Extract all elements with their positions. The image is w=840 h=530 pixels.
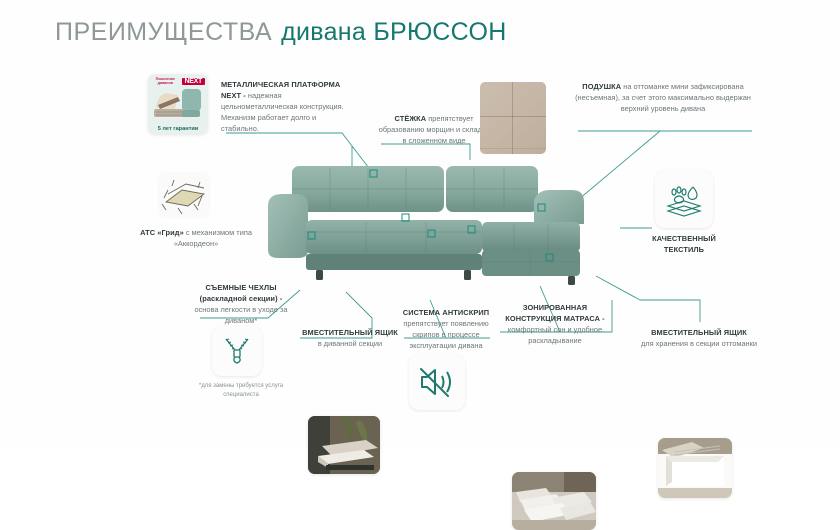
feature-sofa-storage-body: в диванной секции: [296, 339, 404, 350]
next-badge: Поколение диванов NEXT: [151, 76, 205, 87]
feature-ottoman-storage-text: ВМЕСТИТЕЛЬНЫЙ ЯЩИК для хранения в секции…: [640, 328, 758, 350]
page-title-accent: дивана БРЮССОН: [281, 18, 506, 46]
next-platform-photo: Поколение диванов NEXT 5 лет гарантии: [148, 74, 208, 134]
feature-atc-grid-title: АТС «Грид»: [140, 228, 184, 237]
ottoman-box-photo: [658, 438, 732, 498]
feature-removable-covers-text: СЪЕМНЫЕ ЧЕХЛЫ (раскладной секции) - осно…: [182, 283, 300, 327]
feature-removable-covers-title: СЪЕМНЫЕ ЧЕХЛЫ: [182, 283, 300, 294]
next-warranty-label: 5 лет гарантии: [148, 126, 208, 132]
feature-quilting-title: СТЁЖКА: [394, 114, 426, 123]
anti-squeak-icon-tile: [409, 354, 465, 410]
feature-pillow-title: ПОДУШКА: [582, 82, 621, 91]
feature-quality-textile-title: КАЧЕСТВЕННЫЙ ТЕКСТИЛЬ: [652, 234, 716, 254]
quilted-pillow-photo: [480, 82, 546, 154]
feature-metal-platform-title-suffix: -: [241, 91, 246, 100]
feature-metal-platform-text: МЕТАЛЛИЧЕСКАЯ ПЛАТФОРМА NEXT - надежная …: [221, 80, 349, 135]
zipper-icon: [220, 334, 254, 368]
feature-sofa-storage-title: ВМЕСТИТЕЛЬНЫЙ ЯЩИК: [296, 328, 404, 339]
feature-ottoman-storage-body: для хранения в секции оттоманки: [640, 339, 758, 350]
feature-anti-squeak-text: СИСТЕМА АНТИСКРИП препятствует появлению…: [400, 308, 492, 352]
feature-zoned-mattress-body: комфортный сон и удобное раскладывание: [496, 325, 614, 347]
next-badge-line2: диванов: [151, 82, 180, 86]
sofa-drawer-photo: [308, 416, 380, 474]
feature-ottoman-storage-title: ВМЕСТИТЕЛЬНЫЙ ЯЩИК: [640, 328, 758, 339]
feature-atc-grid-text: АТС «Грид» с механизмом типа «Аккордеон»: [140, 228, 252, 250]
product-sofa-image: [262, 158, 602, 298]
feature-quilting-text: СТЁЖКА препятствует образованию морщин и…: [378, 114, 490, 147]
feature-anti-squeak-title: СИСТЕМА АНТИСКРИП: [400, 308, 492, 319]
page-title: ПРЕИМУЩЕСТВАдивана БРЮССОН: [55, 18, 507, 47]
atc-grid-photo: [158, 172, 210, 218]
muted-speaker-icon: [418, 365, 456, 399]
feature-quality-textile-text: КАЧЕСТВЕННЫЙ ТЕКСТИЛЬ: [648, 233, 720, 255]
zipper-icon-tile: [212, 326, 262, 376]
infographic-canvas: ПРЕИМУЩЕСТВАдивана БРЮССОН: [0, 0, 840, 450]
feature-removable-covers-footnote: *для замены требуется услуга специалиста: [186, 382, 296, 399]
feature-zoned-mattress-title: ЗОНИРОВАННАЯ КОНСТРУКЦИЯ МАТРАСА -: [496, 303, 614, 325]
quality-textile-icon-tile: [655, 170, 713, 228]
feature-zoned-mattress-text: ЗОНИРОВАННАЯ КОНСТРУКЦИЯ МАТРАСА - комфо…: [496, 303, 614, 347]
page-title-main: ПРЕИМУЩЕСТВА: [55, 18, 272, 46]
feature-anti-squeak-body: препятствует появлению скрипов в процесс…: [400, 319, 492, 352]
next-badge-mark: NEXT: [182, 78, 205, 85]
paw-waterdrop-layers-icon: [664, 179, 704, 219]
feature-sofa-storage-text: ВМЕСТИТЕЛЬНЫЙ ЯЩИК в диванной секции: [296, 328, 404, 350]
unfolded-mattress-photo: [512, 472, 596, 530]
feature-atc-grid-body: с механизмом типа «Аккордеон»: [174, 228, 252, 248]
feature-pillow-text: ПОДУШКА на оттоманке мини зафиксирована …: [572, 82, 754, 115]
feature-removable-covers-body: основа легкости в уходе за диваном*: [182, 305, 300, 327]
feature-removable-covers-subtitle: (раскладной секции) -: [182, 294, 300, 305]
